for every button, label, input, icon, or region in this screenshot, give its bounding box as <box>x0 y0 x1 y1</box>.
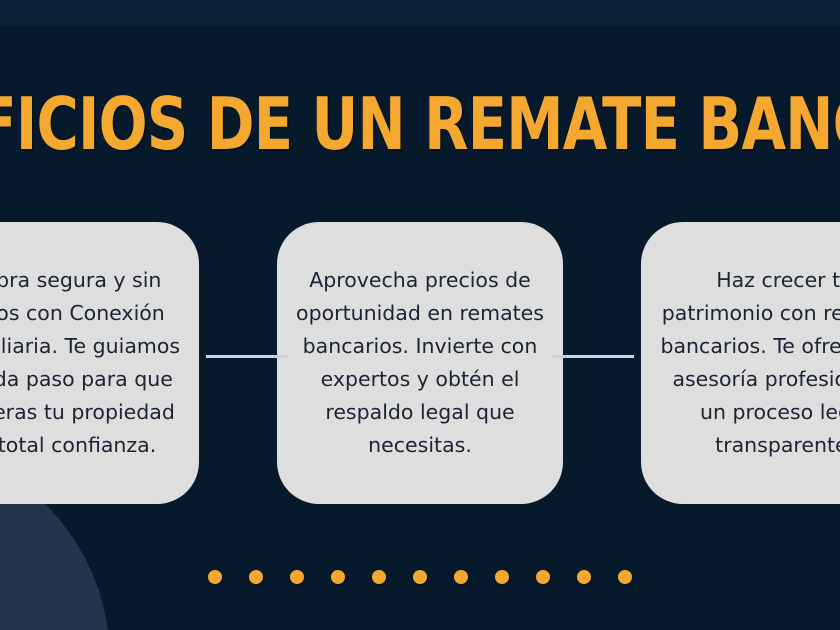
benefit-card-3-text: Haz crecer tu patrimonio con remates ban… <box>657 264 840 462</box>
benefit-card-1: Compra segura y sin riesgos con Conexión… <box>0 222 199 504</box>
benefit-card-3: Haz crecer tu patrimonio con remates ban… <box>641 222 840 504</box>
card-connector-line-1 <box>206 355 288 358</box>
top-accent-band <box>0 0 840 26</box>
poster-canvas: BENEFICIOS DE UN REMATE BANCARIO Compra … <box>0 0 840 630</box>
benefit-card-1-text: Compra segura y sin riesgos con Conexión… <box>0 264 183 462</box>
card-connector-line-2 <box>552 355 634 358</box>
decorative-dot <box>372 570 386 584</box>
page-title: BENEFICIOS DE UN REMATE BANCARIO <box>0 86 840 162</box>
benefit-cards-row: Compra segura y sin riesgos con Conexión… <box>0 222 840 504</box>
decorative-dot <box>536 570 550 584</box>
decorative-dot <box>495 570 509 584</box>
decorative-dot <box>208 570 222 584</box>
decorative-dot <box>249 570 263 584</box>
decorative-dot <box>454 570 468 584</box>
decorative-dot <box>577 570 591 584</box>
benefit-card-2: Aprovecha precios de oportunidad en rema… <box>277 222 564 504</box>
benefit-card-2-text: Aprovecha precios de oportunidad en rema… <box>293 264 548 462</box>
page-title-text: BENEFICIOS DE UN REMATE BANCARIO <box>0 88 840 160</box>
decorative-dot <box>331 570 345 584</box>
decorative-dot-row <box>0 570 840 584</box>
decorative-dot <box>290 570 304 584</box>
decorative-dot <box>413 570 427 584</box>
decorative-dot <box>618 570 632 584</box>
